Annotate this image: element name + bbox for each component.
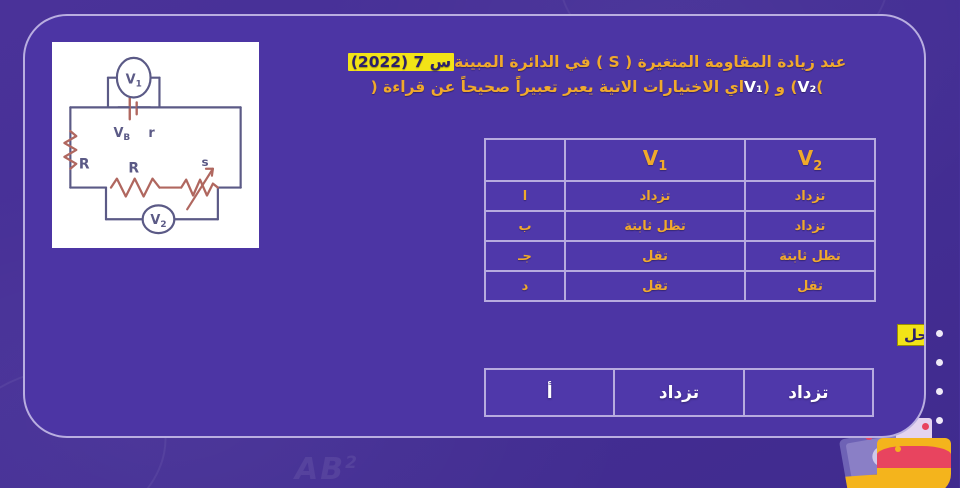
choice-v1: تقل <box>566 241 746 271</box>
rheostat-symbol <box>182 180 219 196</box>
decorative-dot-rail <box>937 330 944 424</box>
dot-2 <box>937 359 944 366</box>
beaker-bubble-2 <box>923 423 930 430</box>
choice-v2: تزداد <box>746 211 876 241</box>
choice-key: جـ <box>486 241 566 271</box>
question-number-tag: س 7 (2022) <box>349 53 455 71</box>
question-line-2-tail: ) <box>817 78 824 96</box>
choices-table-header-row: V2 V1 <box>486 139 876 181</box>
beaker-liquid <box>878 446 952 468</box>
question-line-2: )V₂) و (V₁اي الاختيارات الاتية يعبر تعبي… <box>288 75 908 100</box>
answer-v1: تزداد <box>615 369 744 416</box>
choice-key: ب <box>486 211 566 241</box>
choice-v2: تقل <box>746 271 876 301</box>
battery-internal-text: r <box>149 126 156 141</box>
choice-v1: تظل ثابتة <box>566 211 746 241</box>
question-variable-v2: V₂ <box>798 78 817 96</box>
circuit-diagram-svg: V1 V2 VB r R R s <box>57 46 256 244</box>
dot-3 <box>937 388 944 395</box>
question-line-1: عند زيادة المقاومة المتغيرة ( S ) في الد… <box>288 50 908 75</box>
dot-1 <box>937 330 944 337</box>
rheostat-text: s <box>202 155 209 169</box>
table-row[interactable]: تقل تقل د <box>486 271 876 301</box>
battery-emf-text: VB <box>114 126 131 143</box>
choices-header-v2-text: V <box>799 146 814 170</box>
choices-header-key <box>486 139 566 181</box>
choice-v2: تزداد <box>746 181 876 211</box>
choices-header-v1: V1 <box>566 139 746 181</box>
choices-header-v2-sub: 2 <box>814 159 823 174</box>
beaker-bubble-3 <box>896 446 902 452</box>
slide-panel: V1 V2 VB r R R s عند زيادة المقاومة المت… <box>24 14 927 438</box>
choices-table: V2 V1 تزداد تزداد ا تزداد تظل ثابتة ب تظ… <box>485 138 877 302</box>
table-row[interactable]: تزداد تزداد ا <box>486 181 876 211</box>
solution-label: الحل <box>898 324 927 346</box>
choice-key: ا <box>486 181 566 211</box>
choice-v1: تقل <box>566 271 746 301</box>
choices-header-v1-text: V <box>644 146 659 170</box>
choice-v1: تزداد <box>566 181 746 211</box>
answer-row: تزداد تزداد أ <box>486 369 874 416</box>
circuit-diagram-card: V1 V2 VB r R R s <box>53 42 260 248</box>
answer-key: أ <box>486 369 615 416</box>
resistor-middle-symbol <box>112 179 161 197</box>
question-variable-v1: V₁ <box>745 78 764 96</box>
choices-header-v2: V2 <box>746 139 876 181</box>
table-row[interactable]: تزداد تظل ثابتة ب <box>486 211 876 241</box>
question-line-2-mid: ) و ( <box>764 78 799 96</box>
question-line-1-text: عند زيادة المقاومة المتغيرة ( S ) في الد… <box>455 53 847 71</box>
table-row[interactable]: تظل ثابتة تقل جـ <box>486 241 876 271</box>
answer-v2: تزداد <box>745 369 874 416</box>
question-block: عند زيادة المقاومة المتغيرة ( S ) في الد… <box>288 50 908 100</box>
question-line-2-head: اي الاختيارات الاتية يعبر تعبيراً صحيحاً… <box>372 78 745 96</box>
resistor-middle-text: R <box>129 161 140 177</box>
answer-table: تزداد تزداد أ <box>485 368 875 417</box>
choices-header-v1-sub: 1 <box>659 159 668 174</box>
choice-v2: تظل ثابتة <box>746 241 876 271</box>
choice-key: د <box>486 271 566 301</box>
resistor-left-text: R <box>80 157 91 173</box>
